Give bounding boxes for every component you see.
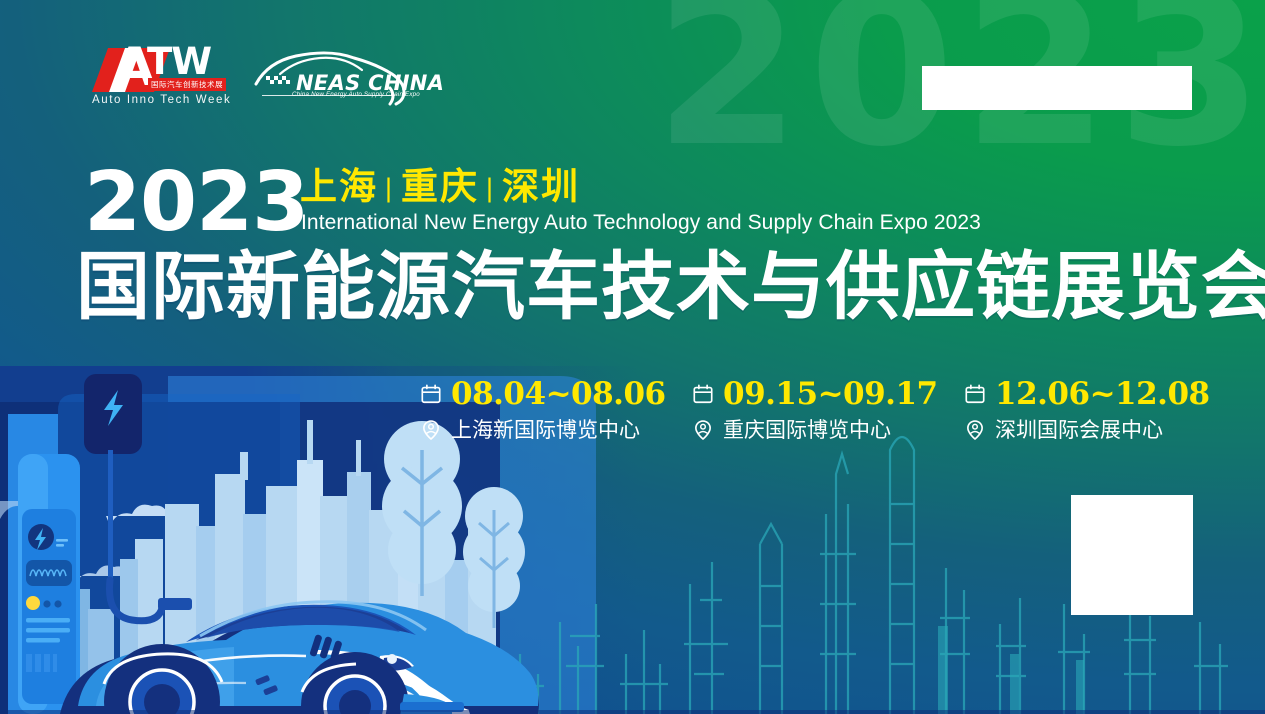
event-schedule: 08.04~08.06 上海新国际博览中心 09.15~09.17 [420,378,1236,443]
event-block-chongqing: 09.15~09.17 重庆国际博览中心 [692,378,964,443]
event-date: 08.04~08.06 [451,378,666,411]
event-date-row: 09.15~09.17 [692,378,964,411]
city-shanghai: 上海 [300,166,378,207]
atw-english-name: Auto Inno Tech Week [92,94,231,106]
headline-year: 2023 [84,162,308,244]
city-shenzhen: 深圳 [502,166,580,207]
atw-logo[interactable]: A TW 国际汽车创新技术展 Auto Inno Tech Week [92,44,214,112]
event-date-row: 08.04~08.06 [420,378,692,411]
event-venue-row: 上海新国际博览中心 [420,418,692,443]
neas-tagline: China New Energy Auto Supply Chain Expo [292,91,420,98]
event-venue: 重庆国际博览中心 [723,418,891,443]
atw-chinese-subtitle: 国际汽车创新技术展 [148,78,226,91]
event-block-shenzhen: 12.06~12.08 深圳国际会展中心 [964,378,1236,443]
location-pin-icon [420,419,442,441]
qr-code-placeholder[interactable] [1071,495,1193,615]
logo-group: A TW 国际汽车创新技术展 Auto Inno Tech Week NEAS … [92,44,408,112]
event-date: 09.15~09.17 [723,378,938,411]
event-block-shanghai: 08.04~08.06 上海新国际博览中心 [420,378,692,443]
city-separator-2: | [479,173,502,203]
event-venue: 上海新国际博览中心 [451,418,640,443]
neas-china-logo[interactable]: NEAS CHINA China New Energy Auto Supply … [250,50,408,110]
expo-banner: 2023 [0,0,1265,714]
event-date-row: 12.06~12.08 [964,378,1236,411]
neas-checker-flag-icon [266,74,292,87]
event-venue-row: 重庆国际博览中心 [692,418,964,443]
calendar-icon [692,383,714,405]
location-pin-icon [692,419,714,441]
city-separator-1: | [378,173,401,203]
event-venue-row: 深圳国际会展中心 [964,418,1236,443]
city-chongqing: 重庆 [401,166,479,207]
top-banner-placeholder[interactable] [922,66,1192,110]
event-venue: 深圳国际会展中心 [995,418,1163,443]
calendar-icon [420,383,442,405]
location-pin-icon [964,419,986,441]
main-title-chinese: 国际新能源汽车技术与供应链展览会 [76,250,1265,324]
event-date: 12.06~12.08 [995,378,1210,411]
subtitle-english: International New Energy Auto Technology… [301,211,981,235]
calendar-icon [964,383,986,405]
host-cities: 上海|重庆|深圳 [300,168,580,205]
atw-letters-tw: TW [147,43,211,80]
